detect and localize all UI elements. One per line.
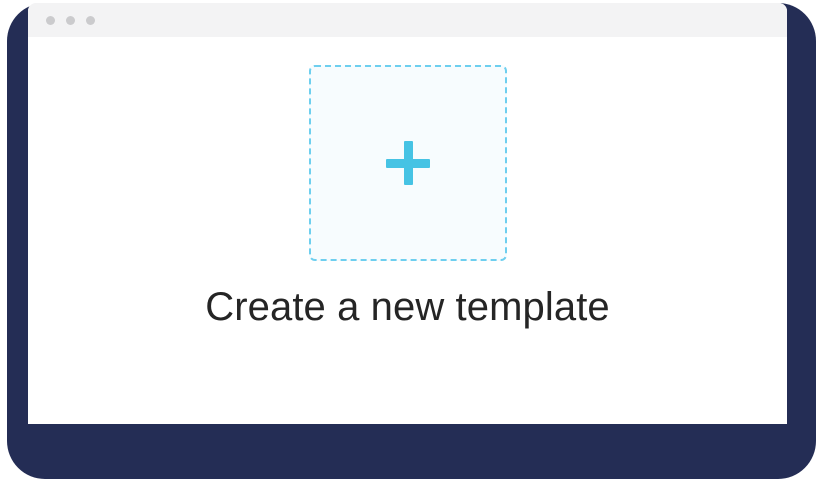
- plus-icon: [386, 141, 430, 185]
- screenshot-root: Create a new template: [0, 0, 823, 485]
- browser-content: Create a new template: [28, 37, 787, 424]
- plus-icon-vertical-bar: [404, 141, 413, 185]
- close-dot-icon[interactable]: [46, 16, 55, 25]
- browser-titlebar: [28, 3, 787, 37]
- create-template-dropzone[interactable]: [309, 65, 507, 261]
- maximize-dot-icon[interactable]: [86, 16, 95, 25]
- empty-state: Create a new template: [28, 37, 787, 327]
- empty-state-title: Create a new template: [205, 287, 610, 327]
- traffic-light-group: [46, 16, 95, 25]
- minimize-dot-icon[interactable]: [66, 16, 75, 25]
- browser-window: Create a new template: [28, 3, 787, 424]
